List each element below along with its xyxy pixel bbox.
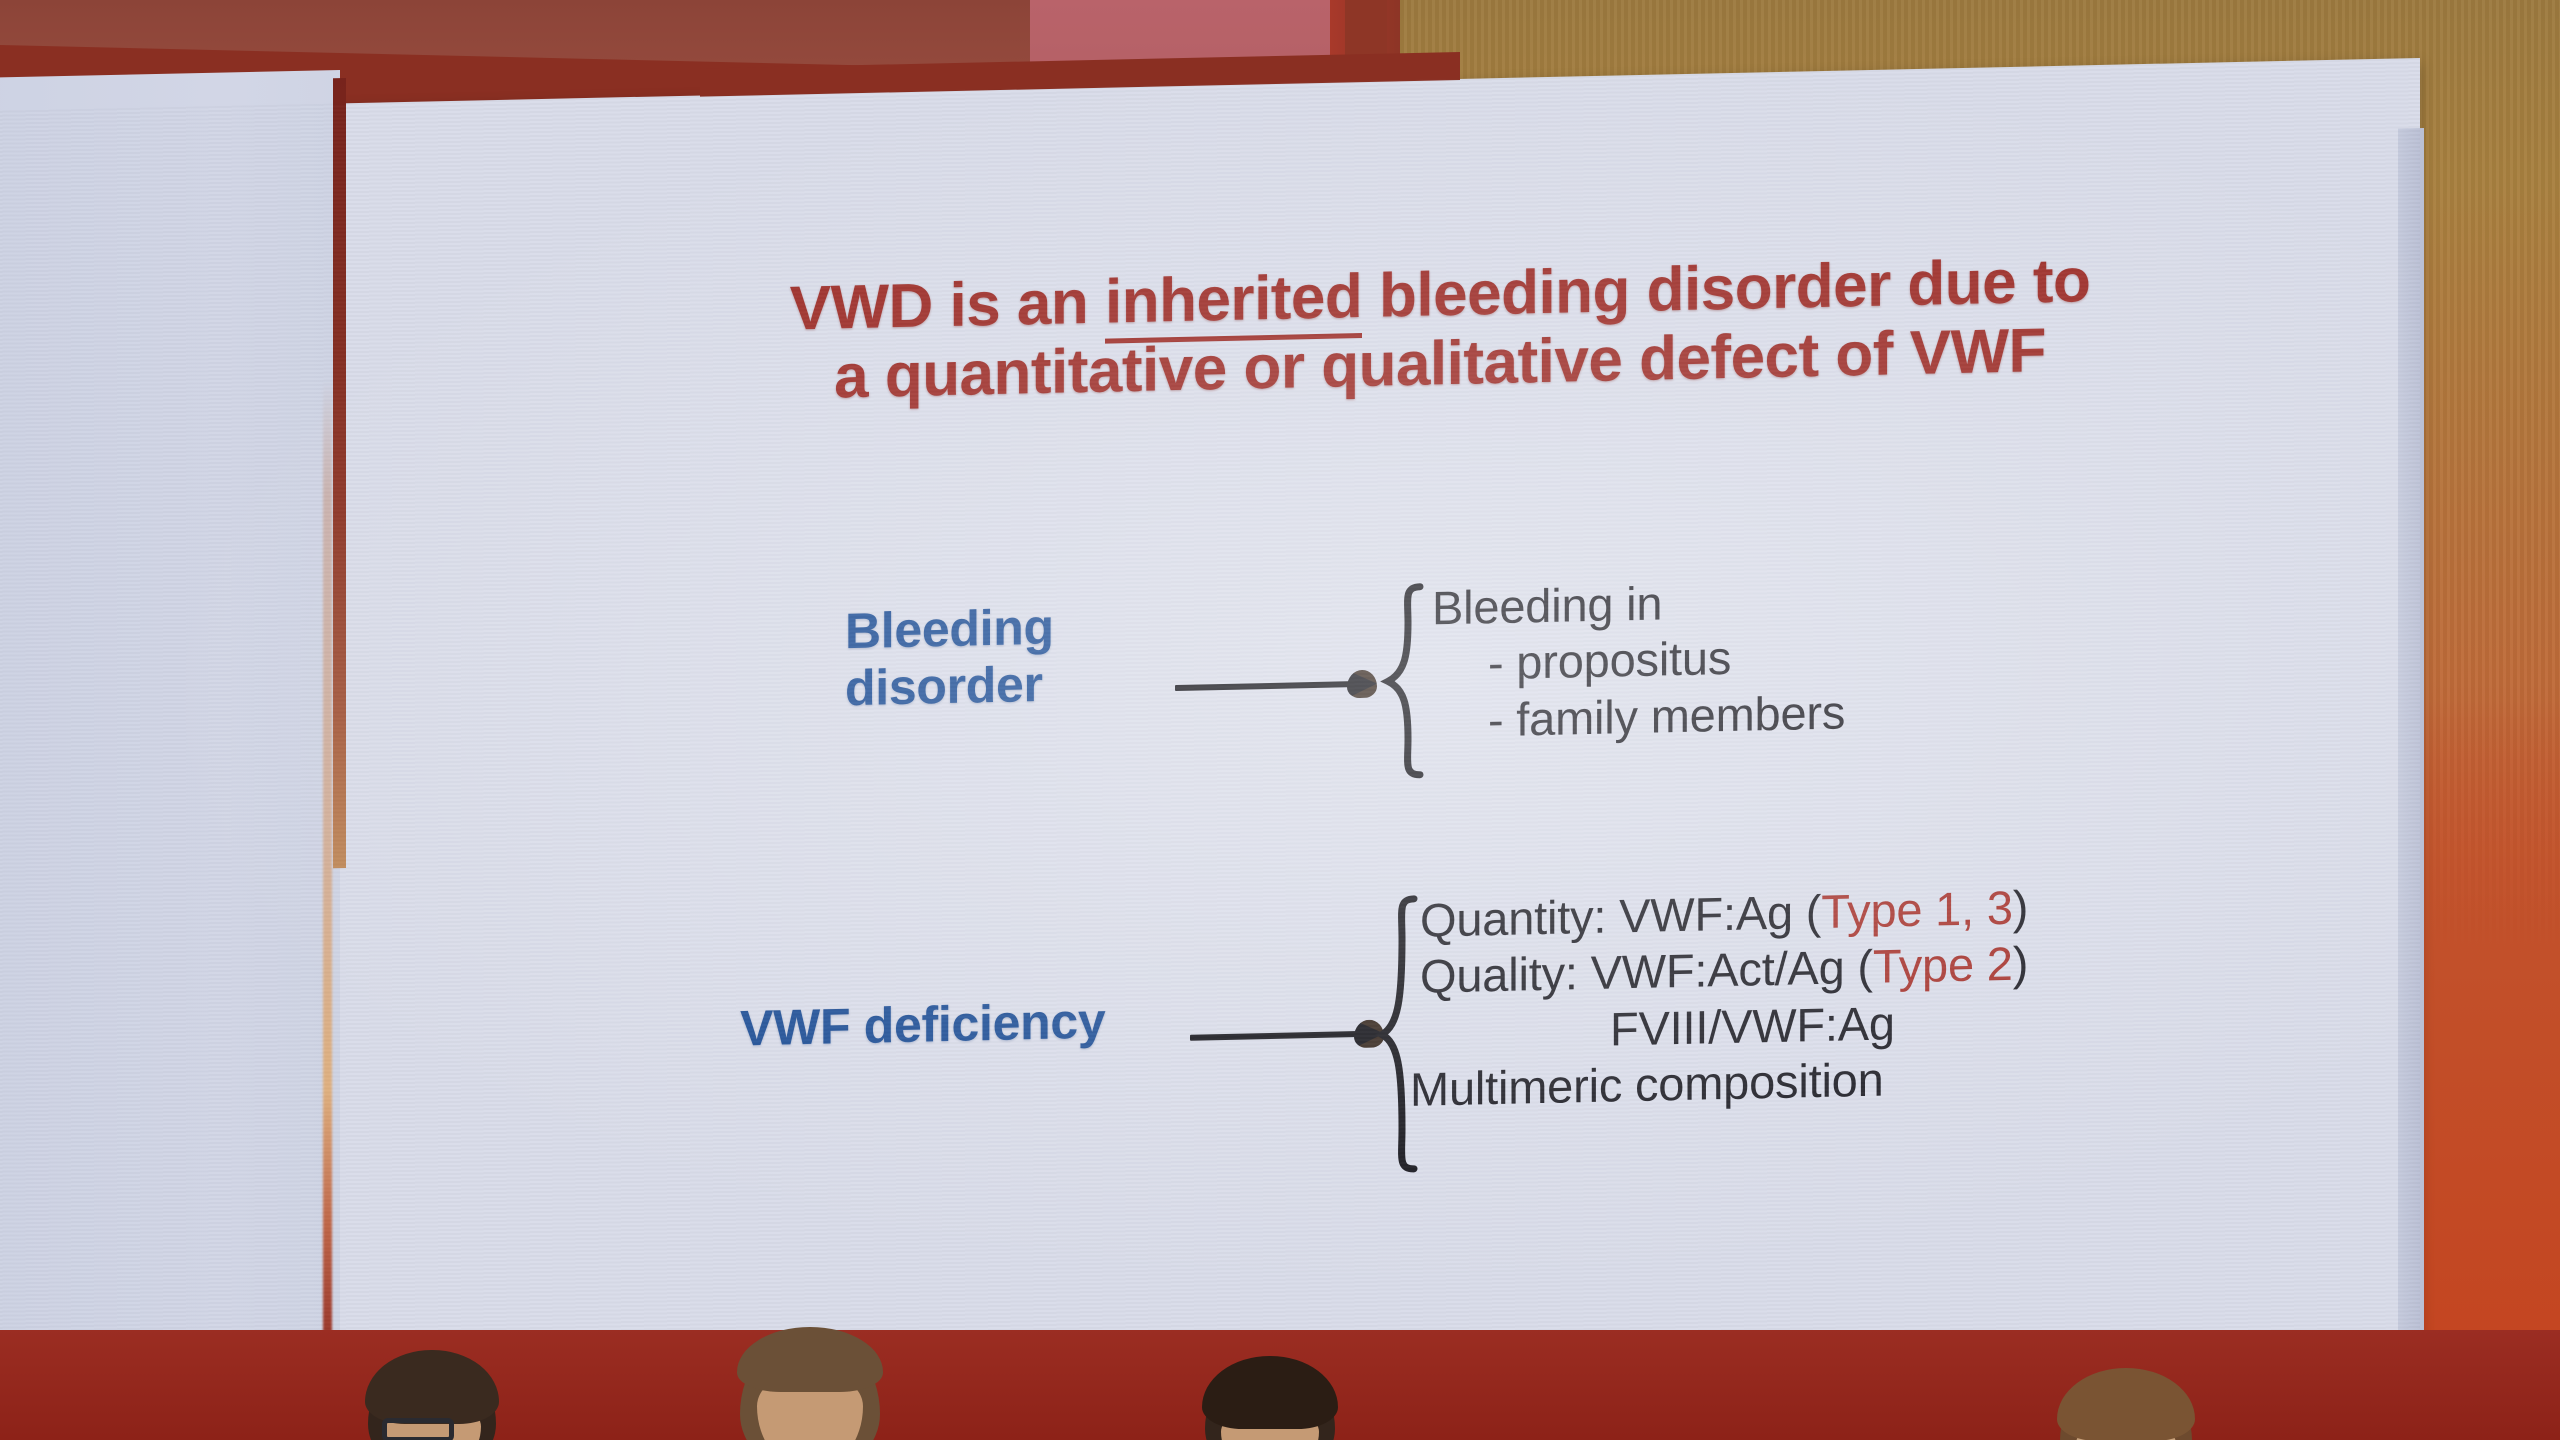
- eyeglasses: [382, 1418, 454, 1440]
- audience-head: [2060, 1370, 2192, 1440]
- list-bleeding-disorder: Bleeding in - propositus - family member…: [1432, 571, 1845, 749]
- item-accent-text: Type 2: [1873, 937, 2013, 993]
- row-vwf-deficiency-label: VWF deficiency: [740, 993, 1105, 1058]
- arrow-bleeding-disorder: [1175, 667, 1380, 705]
- list-item: - propositus: [1432, 628, 1845, 693]
- row-bleeding-disorder-label: Bleeding disorder: [845, 599, 1054, 718]
- label-vwf-deficiency: VWF deficiency: [740, 993, 1105, 1058]
- projection-screen: VWD is an inherited bleeding disorder du…: [0, 0, 2460, 1360]
- item-text-tail: ): [2013, 937, 2028, 990]
- list-item: Bleeding in: [1432, 571, 1845, 636]
- list-vwf-deficiency: Quantity: VWF:Ag (Type 1, 3) Quality: VW…: [1420, 879, 2028, 1118]
- item-text-tail: ): [2013, 880, 2028, 933]
- list-item: - family members: [1432, 684, 1845, 749]
- label-bleeding-line1: Bleeding: [845, 599, 1054, 661]
- item-accent-text: Type 1, 3: [1821, 881, 2013, 938]
- label-bleeding-line2: disorder: [845, 656, 1054, 718]
- slide-title-line1-before: VWD is an: [790, 268, 1105, 344]
- slide-content: VWD is an inherited bleeding disorder du…: [0, 58, 2460, 1422]
- screenshot-root: VWD is an inherited bleeding disorder du…: [0, 0, 2560, 1440]
- brace-vwf-deficiency: [1372, 893, 1420, 1176]
- audience-head: [740, 1330, 880, 1440]
- list-item: Multimeric composition: [1410, 1049, 2028, 1119]
- slide-title: VWD is an inherited bleeding disorder du…: [760, 245, 2120, 414]
- audience-head: [1205, 1358, 1335, 1440]
- item-text: Quality: VWF:Act/Ag (: [1420, 940, 1873, 1003]
- arrow-vwf-deficiency: [1190, 1016, 1390, 1054]
- brace-bleeding-disorder: [1378, 581, 1426, 782]
- item-text: Quantity: VWF:Ag (: [1420, 885, 1821, 947]
